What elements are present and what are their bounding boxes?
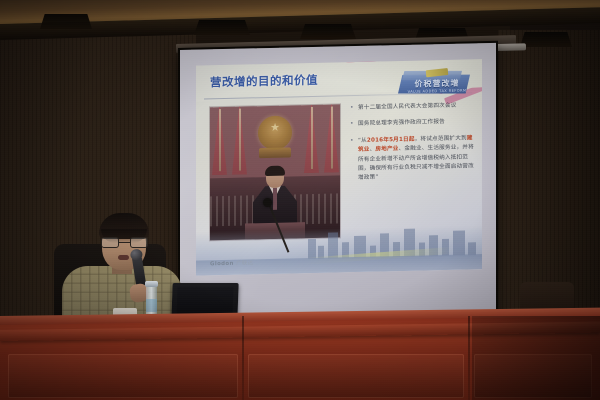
banner-pole: [219, 109, 221, 171]
skyline-footer-graphic: [196, 225, 482, 275]
pointer-tip: [263, 198, 272, 207]
brand-logo-text: Glodon: [210, 261, 234, 268]
bullet-item: 第十二届全国人民代表大会第四次会议: [350, 101, 474, 113]
bottle-cap: [145, 281, 158, 287]
presenter-mouth: [118, 255, 129, 260]
bullet-item: 国务院总理李克强作政府工作报告: [350, 118, 474, 130]
brand-logo: Glodon 广联达: [210, 258, 253, 267]
quote-part1: ，将试点范围扩大到: [415, 135, 467, 142]
quote-highlight-date: 2016年5月1日起: [367, 136, 415, 143]
wordart-badge: 价税营改增 VALUE ADDED TAX REFORM: [396, 67, 476, 99]
ceiling-light-fixture: [300, 24, 356, 39]
ceiling-light-fixture: [194, 20, 250, 35]
skyline-building: [453, 231, 465, 256]
skyline-building: [308, 239, 316, 259]
presentation-slide: 营改增的目的和价值 价税营改增 VALUE ADDED TAX REFORM: [196, 59, 482, 275]
wooden-podium: [0, 316, 600, 400]
bottle-label: [146, 299, 157, 312]
photo-scene: 营改增的目的和价值 价税营改增 VALUE ADDED TAX REFORM: [0, 0, 600, 400]
speaker-tie: [273, 188, 277, 210]
microphone-head: [130, 248, 144, 261]
bullet-item-quote: “从2016年5月1日起，将试点范围扩大到建筑业、房地产业、金融业、生活服务业，…: [350, 134, 474, 184]
eyeglass-lens-left: [101, 237, 119, 248]
national-emblem-base: [259, 147, 291, 158]
eyeglass-bridge: [119, 242, 130, 243]
podium-seam: [468, 316, 470, 400]
presenter-hair: [99, 213, 149, 239]
eyeglass-lens-right: [130, 237, 148, 248]
banner-pole: [239, 109, 241, 171]
slide-bullet-list: 第十二届全国人民代表大会第四次会议 国务院总理李克强作政府工作报告 “从2016…: [350, 101, 474, 184]
banner-pole: [331, 107, 333, 169]
ceiling-light-fixture: [40, 14, 92, 29]
brand-logo-cn: 广联达: [236, 260, 253, 266]
quote-highlight-realestate: 房地产业: [375, 146, 398, 153]
podium-shadow: [472, 316, 600, 400]
podium-seam: [242, 316, 244, 400]
quote-lead: “从: [358, 138, 367, 144]
slide-title: 营改增的目的和价值: [210, 72, 318, 90]
banner-pole: [311, 107, 313, 169]
eyeglasses-icon: [101, 237, 148, 248]
podium-panel: [8, 354, 238, 398]
ceiling-light-fixture: [520, 32, 572, 47]
podium-panel: [248, 354, 464, 398]
speaker-hair: [265, 166, 285, 176]
national-emblem: [258, 115, 292, 150]
